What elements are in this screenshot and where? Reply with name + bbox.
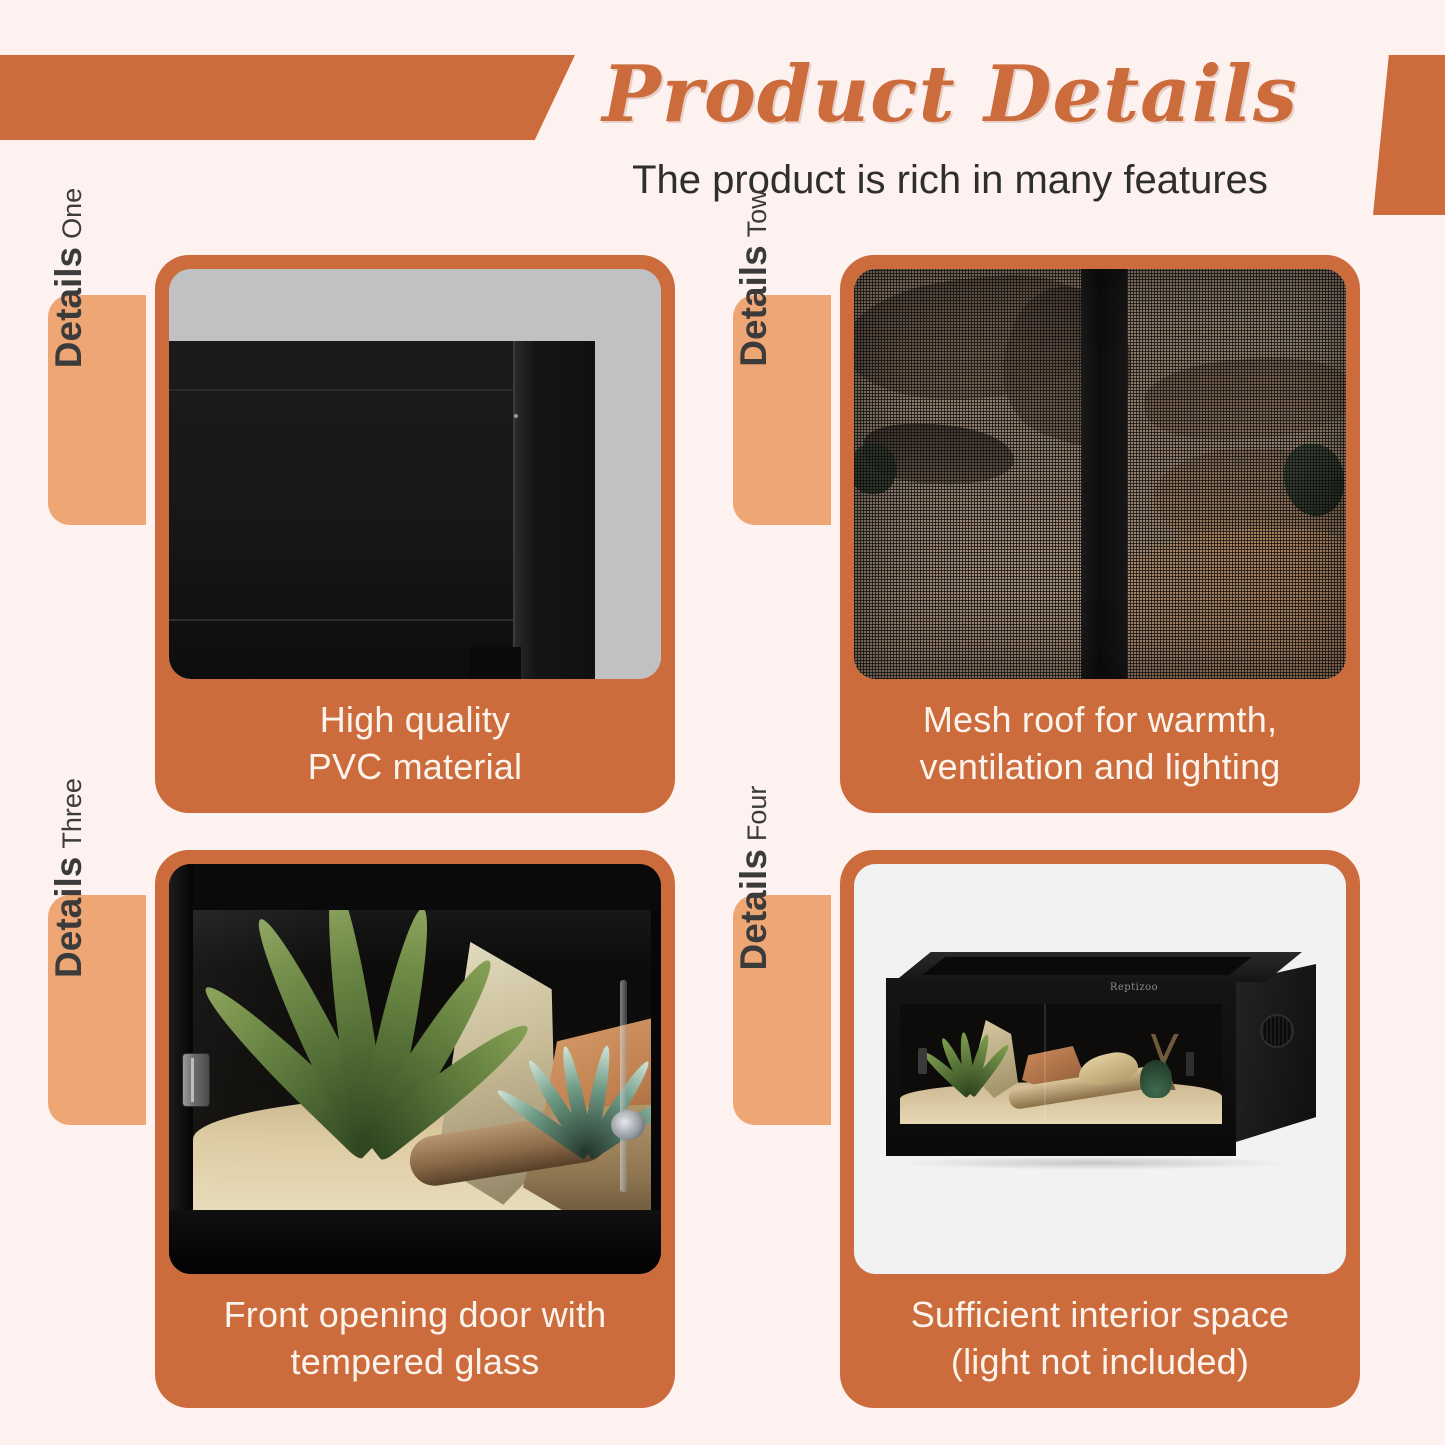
page-header: Product Details The product is rich in m… [0, 0, 1445, 235]
side-tab-two: Details Tow [733, 295, 831, 525]
pvc-screw-dot [514, 414, 518, 418]
pvc-seam-line-bottom [169, 619, 569, 621]
detail-card-three-caption: Front opening door with tempered glass [169, 1274, 661, 1408]
side-tab-four-number: Four [742, 786, 773, 842]
tempered-glass-door-photo [169, 864, 661, 1274]
caption-line-1: Front opening door with [179, 1292, 651, 1339]
side-vent-icon [1260, 1014, 1294, 1048]
enclosure-mesh-top-inner [922, 957, 1252, 975]
side-tab-four-inner: Details Four [733, 763, 831, 993]
enclosure-side-panel [1236, 964, 1316, 1142]
caption-line-2: PVC material [179, 744, 651, 791]
pvc-corner-post [515, 341, 595, 679]
side-tab-one-label: Details [48, 247, 90, 368]
side-tab-one-inner: Details One [48, 163, 146, 393]
caption-line-2: tempered glass [179, 1339, 651, 1386]
side-tab-three-number: Three [57, 778, 88, 849]
frame-bottom [169, 1210, 661, 1274]
terrarium-enclosure: Reptizoo [886, 952, 1316, 1167]
full-terrarium-product-photo: Reptizoo [854, 864, 1346, 1274]
side-tab-three-inner: Details Three [48, 763, 146, 993]
frame-top [169, 864, 661, 910]
side-tab-two-inner: Details Tow [733, 163, 831, 393]
enclosure-glass-window [900, 1004, 1222, 1124]
side-tab-three: Details Three [48, 895, 146, 1125]
side-tab-one: Details One [48, 295, 146, 525]
product-shadow [894, 1156, 1294, 1170]
detail-card-four-caption: Sufficient interior space (light not inc… [854, 1274, 1346, 1408]
glass-support-rod [620, 980, 627, 1192]
details-grid: Details One High quality PVC material De… [0, 235, 1445, 1445]
caption-line-1: Mesh roof for warmth, [864, 697, 1336, 744]
caption-line-1: High quality [179, 697, 651, 744]
lamp-clip-fixture [611, 1110, 645, 1140]
aloe-plant [928, 1020, 1012, 1094]
mesh-roof-closeup-photo [854, 269, 1346, 679]
detail-card-one: High quality PVC material [155, 255, 675, 813]
glass-reflection [193, 910, 651, 968]
door-handle-left [918, 1048, 927, 1074]
succulent-plant [1140, 1060, 1172, 1098]
caption-line-2: (light not included) [864, 1339, 1336, 1386]
detail-card-two-caption: Mesh roof for warmth, ventilation and li… [854, 679, 1346, 813]
side-tab-three-label: Details [48, 857, 90, 978]
side-tab-two-label: Details [733, 245, 775, 366]
caption-line-1: Sufficient interior space [864, 1292, 1336, 1339]
detail-card-four: Reptizoo Sufficient interior space (ligh… [840, 850, 1360, 1408]
header-accent-bar-left [0, 55, 575, 140]
detail-card-two: Mesh roof for warmth, ventilation and li… [840, 255, 1360, 813]
detail-card-three: Front opening door with tempered glass [155, 850, 675, 1408]
pvc-material-closeup-photo [169, 269, 661, 679]
side-tab-two-number: Tow [742, 189, 773, 237]
brand-logo: Reptizoo [1098, 982, 1170, 1000]
side-tab-four: Details Four [733, 895, 831, 1125]
sliding-door-divider [1044, 1004, 1046, 1124]
detail-card-one-caption: High quality PVC material [169, 679, 661, 813]
door-handle [183, 1054, 209, 1106]
side-tab-one-number: One [57, 188, 88, 239]
door-handle-right [1186, 1052, 1194, 1076]
page-title: Product Details [540, 56, 1360, 134]
header-accent-bar-right [1373, 55, 1445, 215]
pvc-base-foot [469, 647, 521, 679]
caption-line-2: ventilation and lighting [864, 744, 1336, 791]
page-subtitle: The product is rich in many features [540, 158, 1360, 203]
side-tab-four-label: Details [733, 849, 775, 970]
photo-vignette [854, 269, 1346, 679]
